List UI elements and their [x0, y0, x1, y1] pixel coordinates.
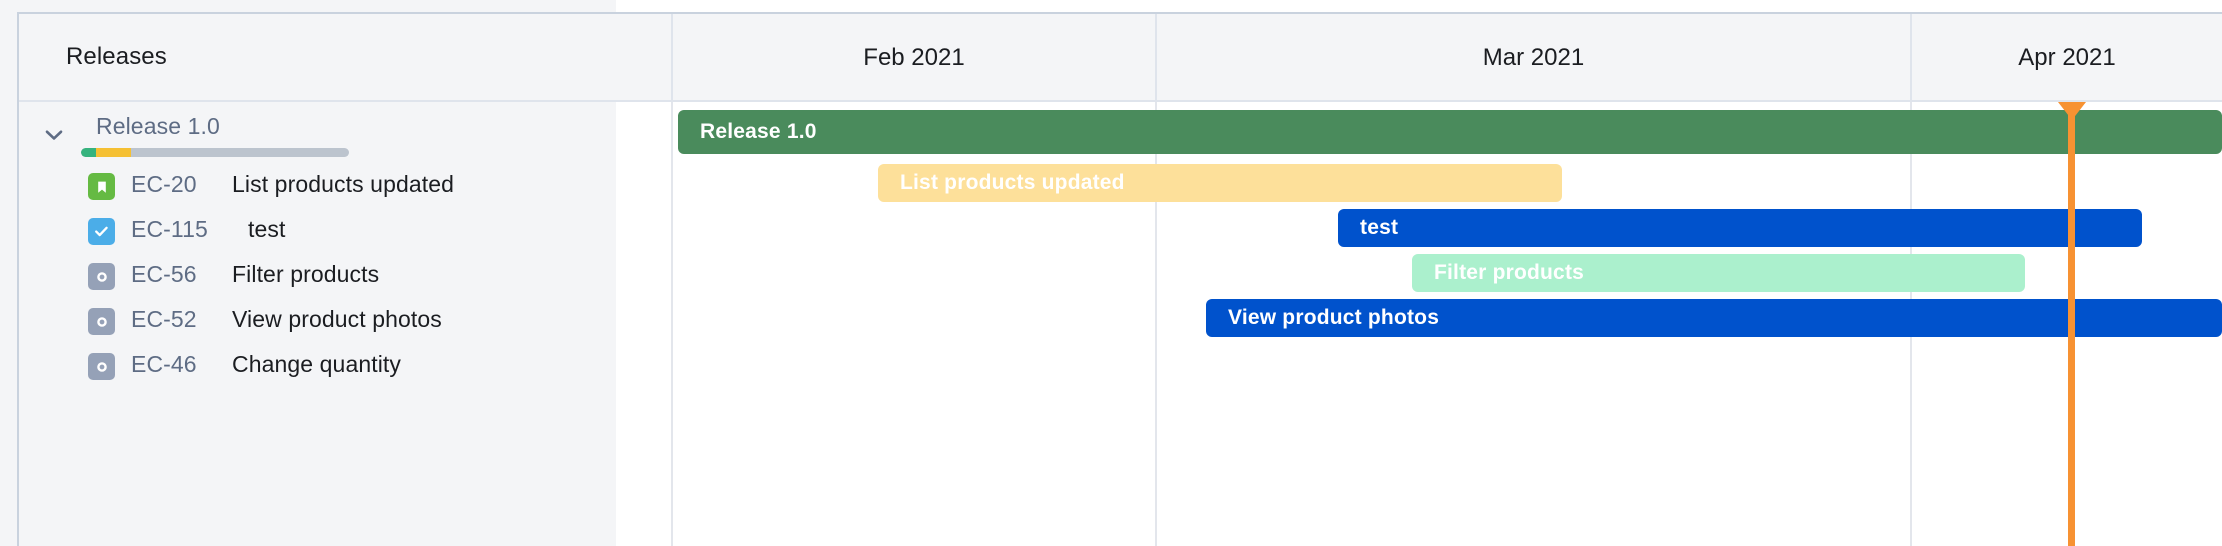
issue-bar[interactable]: Filter products [1412, 254, 2025, 292]
subtask-icon [88, 263, 115, 290]
releases-panel-inner: Releases Release 1.0 [17, 12, 616, 546]
subtask-icon [88, 353, 115, 380]
issue-key[interactable]: EC-56 [131, 261, 197, 288]
issue-summary[interactable]: View product photos [232, 306, 442, 333]
bar-label: Filter products [1412, 261, 1584, 285]
month-header-cell: Apr 2021 [1910, 14, 2222, 102]
issue-row[interactable]: EC-46Change quantity [19, 344, 616, 389]
story-icon [88, 173, 115, 200]
bar-label: Release 1.0 [678, 120, 817, 144]
month-header-cell-partial [616, 14, 671, 102]
bar-label: List products updated [878, 171, 1125, 195]
issue-key[interactable]: EC-46 [131, 351, 197, 378]
issue-summary[interactable]: Change quantity [232, 351, 401, 378]
issue-bar[interactable]: List products updated [878, 164, 1562, 202]
release-group-row[interactable]: Release 1.0 [19, 102, 616, 164]
issue-summary[interactable]: List products updated [232, 171, 454, 198]
month-header-cell: Mar 2021 [1155, 14, 1910, 102]
timeline-body: Release 1.0List products updatedtestFilt… [616, 102, 2222, 546]
timeline-header: Feb 2021Mar 2021Apr 2021 [616, 12, 2222, 102]
today-marker-line [2068, 102, 2075, 546]
chevron-down-icon[interactable] [41, 122, 67, 148]
bar-label: View product photos [1206, 306, 1439, 330]
release-bar[interactable]: Release 1.0 [678, 110, 2222, 154]
issue-summary[interactable]: Filter products [232, 261, 379, 288]
issue-row[interactable]: EC-52View product photos [19, 299, 616, 344]
release-progress-bar [81, 148, 349, 157]
issue-summary[interactable]: test [248, 216, 285, 243]
issue-key[interactable]: EC-115 [131, 216, 208, 243]
issue-row-container: EC-20List products updatedEC-115testEC-5… [19, 164, 616, 389]
release-name[interactable]: Release 1.0 [96, 113, 220, 140]
releases-panel: Releases Release 1.0 [0, 0, 616, 546]
timeline-panel: Feb 2021Mar 2021Apr 2021 Release 1.0List… [616, 0, 2222, 546]
issue-row[interactable]: EC-20List products updated [19, 164, 616, 209]
releases-list: Release 1.0 EC-20List products updatedEC… [19, 102, 616, 389]
progress-segment-done [81, 148, 96, 157]
timeline-grid-line [671, 102, 673, 546]
issue-row[interactable]: EC-115test [19, 209, 616, 254]
progress-segment-in-progress [96, 148, 131, 157]
releases-panel-header: Releases [19, 14, 616, 102]
issue-key[interactable]: EC-20 [131, 171, 197, 198]
month-header-cell: Feb 2021 [671, 14, 1155, 102]
gantt-chart: Releases Release 1.0 [0, 0, 2222, 546]
task-icon [88, 218, 115, 245]
releases-column-header: Releases [19, 43, 167, 71]
issue-bar[interactable]: test [1338, 209, 2142, 247]
issue-key[interactable]: EC-52 [131, 306, 197, 333]
bar-label: test [1338, 216, 1398, 240]
subtask-icon [88, 308, 115, 335]
issue-row[interactable]: EC-56Filter products [19, 254, 616, 299]
